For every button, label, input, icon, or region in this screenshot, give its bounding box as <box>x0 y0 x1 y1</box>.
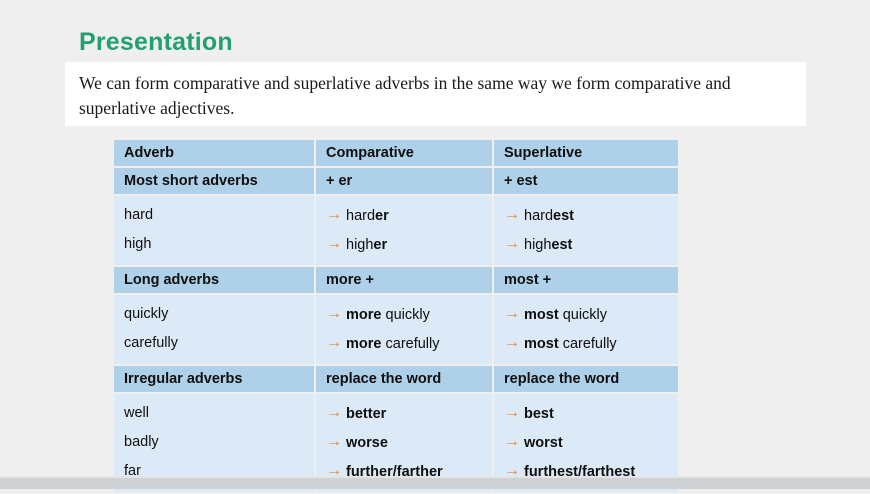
superlative-stem: high <box>524 237 551 253</box>
comparative-word: better <box>346 406 386 422</box>
column-header-adverb: Adverb <box>114 140 314 166</box>
arrow-right-icon: → <box>504 201 520 229</box>
rule-comparative: + er <box>316 168 492 194</box>
adverb-word: carefully <box>124 335 178 351</box>
arrow-right-icon: → <box>504 399 520 427</box>
example-comparatives: →more quickly →more carefully <box>316 295 492 364</box>
arrow-right-icon: → <box>504 329 520 357</box>
arrow-right-icon: → <box>504 300 520 328</box>
comparative-word: worse <box>346 435 388 451</box>
arrow-right-icon: → <box>326 399 342 427</box>
rule-row-short-adverbs: Most short adverbs + er + est <box>114 168 678 194</box>
rule-label: Most short adverbs <box>114 168 314 194</box>
superlative-stem: hard <box>524 208 553 224</box>
table-header-row: Adverb Comparative Superlative <box>114 140 678 166</box>
rule-label: Irregular adverbs <box>114 366 314 392</box>
adverb-word: well <box>124 405 149 421</box>
arrow-right-icon: → <box>504 428 520 456</box>
arrow-right-icon: → <box>326 201 342 229</box>
superlative-marker: most <box>524 336 559 352</box>
arrow-right-icon: → <box>504 230 520 258</box>
example-adverbs: quickly carefully <box>114 295 314 364</box>
rule-row-irregular-adverbs: Irregular adverbs replace the word repla… <box>114 366 678 392</box>
example-group-short-adverbs: hard high →harder →higher <box>114 196 678 265</box>
rule-label: Long adverbs <box>114 267 314 293</box>
comparative-stem: hard <box>346 208 375 224</box>
rule-superlative: replace the word <box>494 366 678 392</box>
superlative-word: best <box>524 406 554 422</box>
comparative-marker: more <box>346 336 381 352</box>
example-comparatives: →harder →higher <box>316 196 492 265</box>
adverb-word: badly <box>124 434 159 450</box>
slide-canvas: Presentation We can form comparative and… <box>0 0 870 489</box>
rule-superlative: most + <box>494 267 678 293</box>
superlative-suffix: est <box>551 237 572 253</box>
adverb-word: high <box>124 236 151 252</box>
superlative-marker: most <box>524 307 559 323</box>
superlative-word: worst <box>524 435 563 451</box>
rule-comparative: more + <box>316 267 492 293</box>
arrow-right-icon: → <box>326 329 342 357</box>
column-header-superlative: Superlative <box>494 140 678 166</box>
example-superlatives: →hardest →highest <box>494 196 678 265</box>
adverb-word: quickly <box>124 306 168 322</box>
arrow-right-icon: → <box>326 428 342 456</box>
example-group-long-adverbs: quickly carefully →more quickly →more ca… <box>114 295 678 364</box>
superlative-stem: carefully <box>563 336 617 352</box>
arrow-right-icon: → <box>326 230 342 258</box>
arrow-right-icon: → <box>326 300 342 328</box>
example-adverbs: hard high <box>114 196 314 265</box>
comparative-stem: carefully <box>386 336 440 352</box>
comparative-stem: high <box>346 237 373 253</box>
intro-callout-box: We can form comparative and superlative … <box>65 62 806 126</box>
rule-comparative: replace the word <box>316 366 492 392</box>
comparative-suffix: er <box>373 237 387 253</box>
rule-superlative: + est <box>494 168 678 194</box>
rule-row-long-adverbs: Long adverbs more + most + <box>114 267 678 293</box>
comparative-stem: quickly <box>386 307 430 323</box>
superlative-stem: quickly <box>563 307 607 323</box>
adverb-comparison-table: Adverb Comparative Superlative Most shor… <box>112 138 680 494</box>
intro-text: We can form comparative and superlative … <box>79 71 792 121</box>
comparative-marker: more <box>346 307 381 323</box>
column-header-comparative: Comparative <box>316 140 492 166</box>
bottom-shadow-strip <box>0 478 870 489</box>
table-body: Adverb Comparative Superlative Most shor… <box>114 140 678 492</box>
comparative-suffix: er <box>375 208 389 224</box>
adverb-word: hard <box>124 207 153 223</box>
page-title: Presentation <box>79 30 233 55</box>
example-superlatives: →most quickly →most carefully <box>494 295 678 364</box>
superlative-suffix: est <box>553 208 574 224</box>
